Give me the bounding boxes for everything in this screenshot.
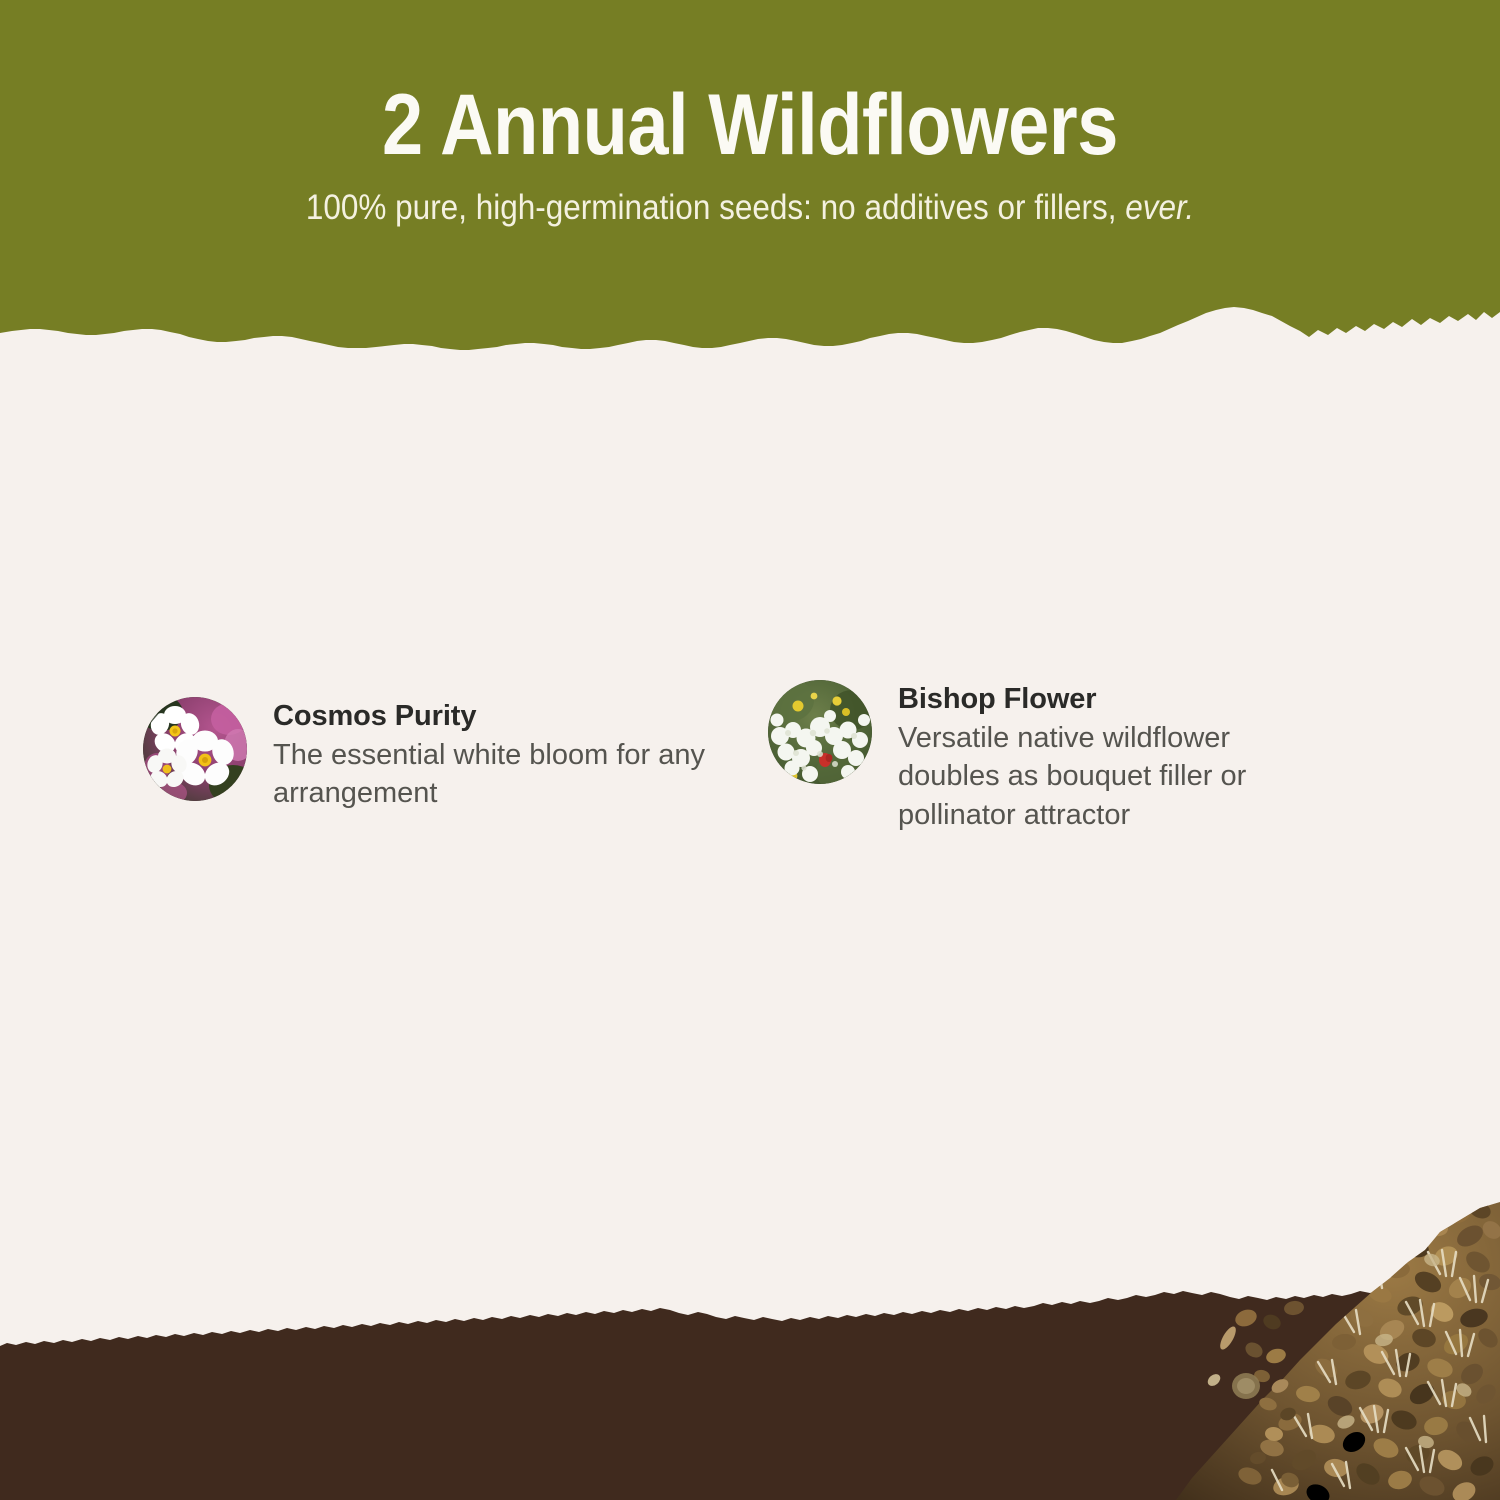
list-item: Bishop Flower Versatile native wildflowe… xyxy=(768,680,1388,834)
bishop-flower-thumbnail xyxy=(768,680,872,784)
feature-description: Versatile native wildflower doubles as b… xyxy=(898,716,1318,834)
soil-band xyxy=(0,1250,1500,1500)
torn-paper-edge-top xyxy=(0,0,1500,360)
feature-text-block: Cosmos Purity The essential white bloom … xyxy=(273,697,763,813)
feature-description: The essential white bloom for any arrang… xyxy=(273,733,763,813)
torn-paper-edge-bottom xyxy=(0,1250,1500,1500)
list-item: Cosmos Purity The essential white bloom … xyxy=(143,697,763,813)
feature-list: Cosmos Purity The essential white bloom … xyxy=(0,680,1500,870)
feature-text-block: Bishop Flower Versatile native wildflowe… xyxy=(898,680,1318,834)
feature-title: Bishop Flower xyxy=(898,682,1318,716)
header-band: 2 Annual Wildflowers 100% pure, high-ger… xyxy=(0,0,1500,360)
cosmos-purity-thumbnail xyxy=(143,697,247,801)
wildflower-seed-infographic: 2 Annual Wildflowers 100% pure, high-ger… xyxy=(0,0,1500,1500)
feature-title: Cosmos Purity xyxy=(273,699,763,733)
